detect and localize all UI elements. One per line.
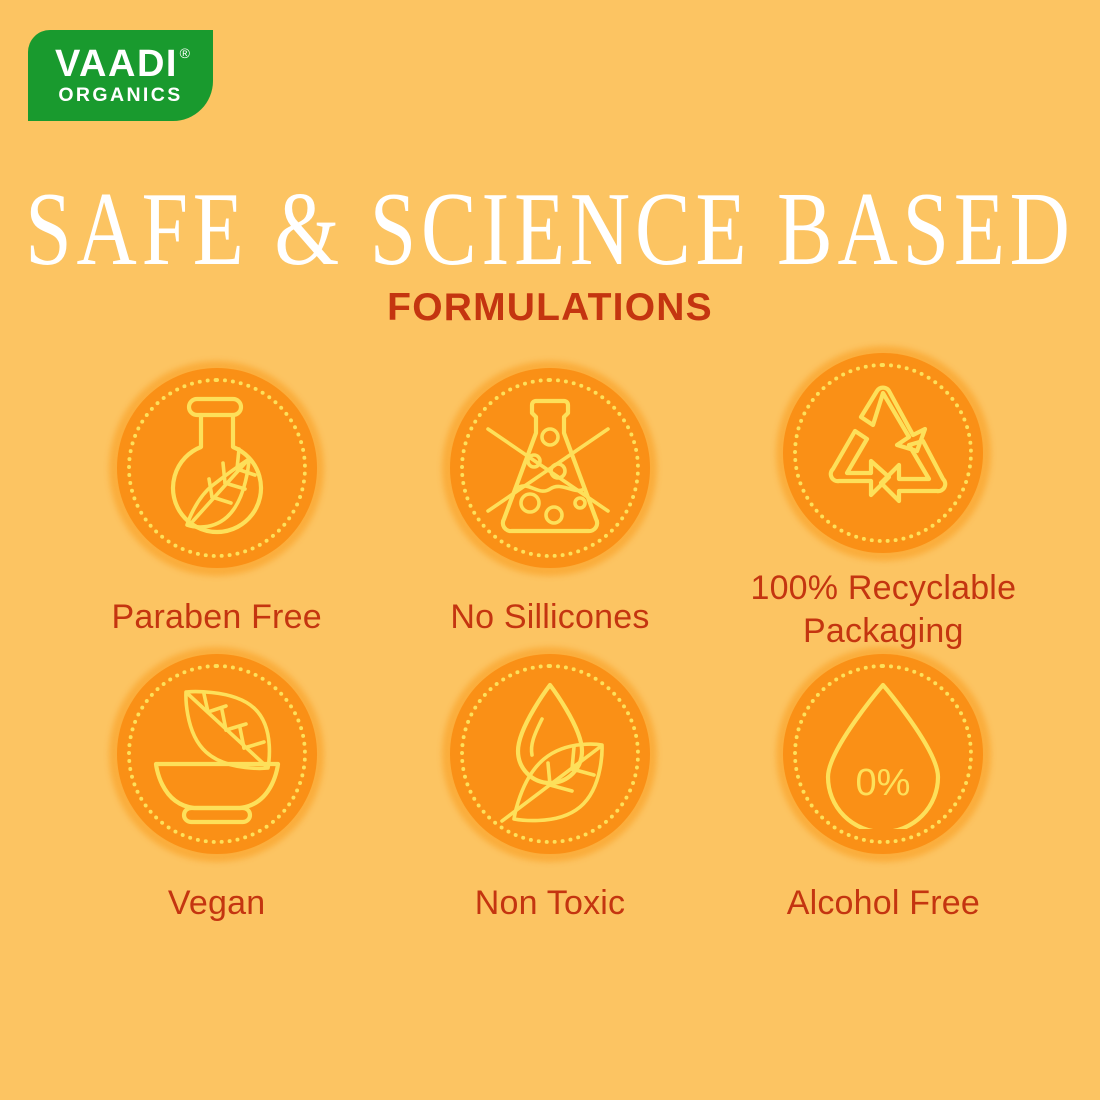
badge-disc [783, 353, 983, 553]
badge-vegan [97, 634, 337, 874]
feature-recyclable-packaging: 100% Recyclable Packaging [717, 368, 1050, 654]
no-silicones-flask-crossed-icon [476, 393, 624, 543]
feature-non-toxic: Non Toxic [383, 654, 716, 940]
badge-recyclable-packaging [763, 348, 1003, 559]
badge-alcohol-free: 0% [763, 634, 1003, 874]
badge-disc: 0% [783, 654, 983, 854]
feature-label: Alcohol Free [787, 882, 980, 926]
feature-label: Non Toxic [475, 882, 625, 926]
registered-trademark-icon: ® [180, 47, 190, 61]
brand-logo: VAADI ® ORGANICS [28, 30, 213, 121]
feature-alcohol-free: 0% Alcohol Free [717, 654, 1050, 940]
feature-label: Paraben Free [112, 596, 322, 640]
badge-paraben-free [97, 348, 337, 588]
brand-name-text: VAADI [55, 43, 178, 85]
flask-leaf-icon [153, 393, 281, 543]
badge-disc [117, 654, 317, 854]
badge-no-sillicones [430, 348, 670, 588]
bowl-leaf-vegan-icon [142, 682, 292, 826]
badge-disc [117, 368, 317, 568]
badge-disc [450, 654, 650, 854]
page-subtitle: FORMULATIONS [0, 288, 1100, 327]
brand-tagline: ORGANICS [58, 85, 182, 106]
feature-paraben-free: Paraben Free [50, 368, 383, 654]
badge-non-toxic [430, 634, 670, 874]
badge-disc [450, 368, 650, 568]
zero-percent-value: 0% [856, 762, 911, 804]
droplet-zero-percent-icon: 0% [818, 679, 948, 829]
recycle-icon [813, 383, 953, 523]
feature-no-sillicones: No Sillicones [383, 368, 716, 654]
feature-label: No Sillicones [450, 596, 649, 640]
feature-label: Vegan [168, 882, 265, 926]
feature-vegan: Vegan [50, 654, 383, 940]
droplet-leaf-non-toxic-icon [480, 679, 620, 829]
feature-grid: Paraben Free No Sillicone [50, 368, 1050, 940]
page-title: SAFE & SCIENCE BASED [17, 176, 1084, 281]
brand-name: VAADI ® [55, 46, 186, 83]
